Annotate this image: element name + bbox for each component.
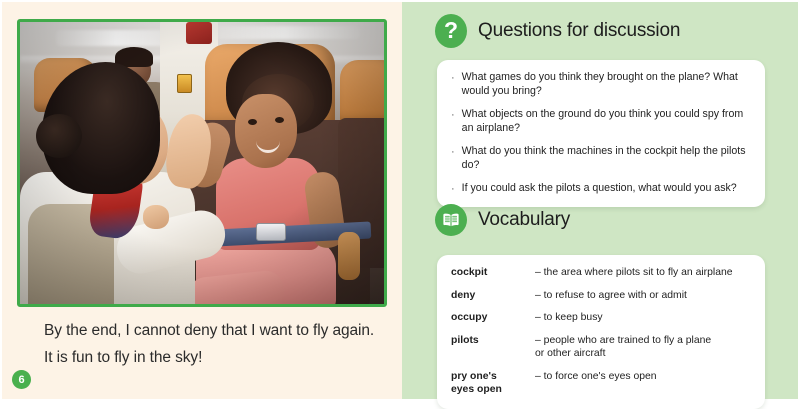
vocabulary-section-title: Vocabulary	[478, 209, 570, 231]
question-text: What objects on the ground do you think …	[462, 108, 749, 136]
vocabulary-section-header: Vocabulary	[402, 200, 570, 236]
vocabulary-card: cockpit – the area where pilots sit to f…	[437, 255, 765, 409]
right-page: ? Questions for discussion · What games …	[402, 0, 800, 401]
bullet-icon: ·	[451, 108, 455, 136]
questions-card: · What games do you think they brought o…	[437, 60, 765, 207]
vocabulary-term: deny	[451, 289, 535, 312]
vocabulary-definition: – people who are trained to fly a plane …	[535, 334, 749, 370]
question-text: What do you think the machines in the co…	[462, 145, 749, 173]
bullet-icon: ·	[451, 145, 455, 173]
vocabulary-term: cockpit	[451, 266, 535, 289]
table-row: occupy – to keep busy	[451, 311, 749, 334]
list-item: · What objects on the ground do you thin…	[451, 108, 749, 136]
open-book-icon	[435, 204, 467, 236]
vocabulary-term: occupy	[451, 311, 535, 334]
question-text: What games do you think they brought on …	[462, 71, 749, 99]
table-row: cockpit – the area where pilots sit to f…	[451, 266, 749, 289]
left-page: By the end, I cannot deny that I want to…	[0, 0, 402, 401]
question-text: If you could ask the pilots a question, …	[462, 182, 737, 197]
vocabulary-definition: – the area where pilots sit to fly an ai…	[535, 266, 749, 289]
list-item: · What games do you think they brought o…	[451, 71, 749, 99]
cabin-photo-frame	[17, 19, 387, 307]
airplane-cabin-photo	[20, 22, 384, 304]
page-number-badge: 6	[12, 370, 31, 389]
questions-section-header: ? Questions for discussion	[402, 2, 798, 48]
vocabulary-term: pilots	[451, 334, 535, 370]
bullet-icon: ·	[451, 182, 455, 197]
table-row: deny – to refuse to agree with or admit	[451, 289, 749, 312]
list-item: · What do you think the machines in the …	[451, 145, 749, 173]
table-row: pilots – people who are trained to fly a…	[451, 334, 749, 370]
question-mark-icon: ?	[435, 14, 467, 48]
vocabulary-table: cockpit – the area where pilots sit to f…	[451, 266, 749, 397]
vocabulary-definition: – to force one's eyes open	[535, 370, 749, 397]
photo-vignette	[20, 22, 384, 304]
vocabulary-term: pry one's eyes open	[451, 370, 535, 397]
table-row: pry one's eyes open – to force one's eye…	[451, 370, 749, 397]
bullet-icon: ·	[451, 71, 455, 99]
story-body-text: By the end, I cannot deny that I want to…	[44, 318, 384, 371]
questions-section-title: Questions for discussion	[478, 20, 680, 42]
vocabulary-definition: – to keep busy	[535, 311, 749, 334]
list-item: · If you could ask the pilots a question…	[451, 182, 749, 197]
vocabulary-definition: – to refuse to agree with or admit	[535, 289, 749, 312]
questions-list: · What games do you think they brought o…	[451, 71, 749, 196]
book-spread: By the end, I cannot deny that I want to…	[0, 0, 800, 401]
